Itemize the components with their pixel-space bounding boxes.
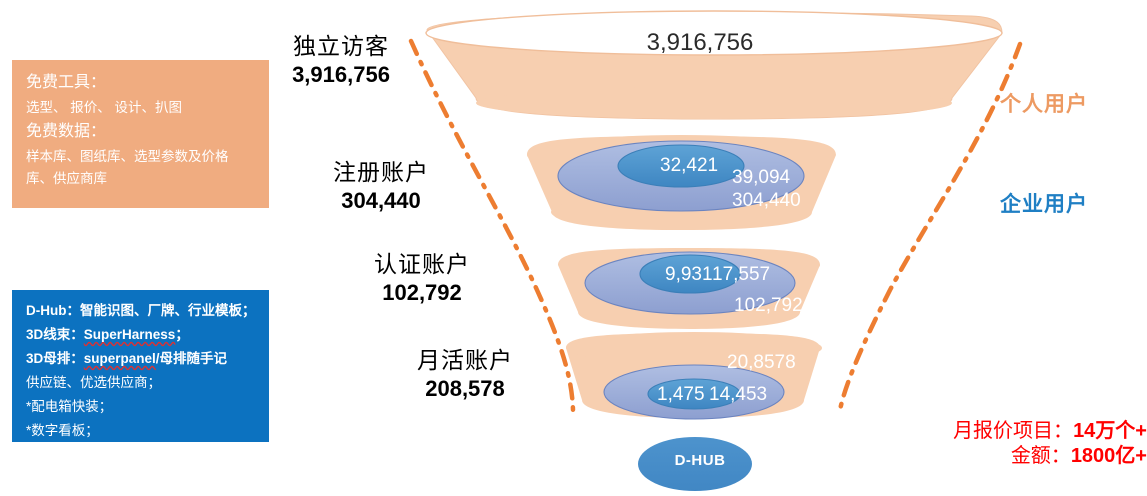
funnel-infographic: 免费工具： 选型、 报价、 设计、扒图 免费数据： 样本库、图纸库、选型参数及价… xyxy=(0,0,1147,496)
dhub-line-3-suffix: /母排随手记 xyxy=(156,351,227,366)
registered-middle-value: 39,094 xyxy=(732,167,790,189)
segment-label-enterprise: 企业用户 xyxy=(1000,188,1088,218)
stage-label-visitors: 独立访客 3,916,756 xyxy=(276,34,406,88)
stage-label-monthly-active: 月活账户 208,578 xyxy=(400,348,530,402)
dhub-line-3-label: 3D母排： xyxy=(26,351,84,366)
superharness-link[interactable]: SuperHarness xyxy=(84,327,176,342)
dhub-line-2-suffix: ； xyxy=(175,327,189,342)
registered-outer-value: 304,440 xyxy=(732,190,801,212)
superpanel-link[interactable]: superpanel xyxy=(84,351,156,366)
stage-label-registered: 注册账户 304,440 xyxy=(316,160,446,214)
segment-label-personal: 个人用户 xyxy=(1000,88,1088,118)
callout-row-amount: 金额：1800亿+ xyxy=(862,443,1147,468)
visitors-total-value: 3,916,756 xyxy=(565,29,835,57)
free-data-heading: 免费数据： xyxy=(26,119,255,145)
stage-label-certified-value: 102,792 xyxy=(357,280,487,306)
dhub-line-2-label: 3D线束： xyxy=(26,327,84,342)
free-data-list-line-1: 样本库、图纸库、选型参数及价格 xyxy=(26,146,255,168)
callout-projects-label: 月报价项目： xyxy=(953,418,1073,442)
monthly-active-middle-value: 14,453 xyxy=(709,384,767,406)
dhub-line-6: *数字看板； xyxy=(26,419,255,443)
free-tools-heading: 免费工具： xyxy=(26,70,255,96)
dhub-line-2: 3D线束：SuperHarness； xyxy=(26,323,255,347)
certified-outer-value: 102,792 xyxy=(734,295,803,317)
stage-label-monthly-active-value: 208,578 xyxy=(400,376,530,402)
dhub-outlet-label: D-HUB xyxy=(610,452,790,469)
dhub-line-3: 3D母排：superpanel/母排随手记 xyxy=(26,347,255,371)
monthly-active-outer-value: 20,8578 xyxy=(727,352,796,374)
stage-label-certified-name: 认证账户 xyxy=(357,252,487,279)
monthly-active-inner-value: 1,475 xyxy=(657,384,705,406)
dhub-line-1: D-Hub：智能识图、厂牌、行业模板； xyxy=(26,299,255,323)
certified-inner-value: 9,931 xyxy=(665,264,713,286)
stage-label-registered-value: 304,440 xyxy=(316,188,446,214)
dhub-products-box: D-Hub：智能识图、厂牌、行业模板； 3D线束：SuperHarness； 3… xyxy=(12,290,269,442)
callout-amount-label: 金额： xyxy=(1011,443,1071,467)
registered-inner-value: 32,421 xyxy=(660,155,718,177)
funnel-stage-visitors xyxy=(426,11,1002,119)
callout-projects-value: 14 xyxy=(1073,420,1095,442)
free-tools-list: 选型、 报价、 设计、扒图 xyxy=(26,97,255,119)
callout-amount-unit: 亿+ xyxy=(1115,445,1147,467)
callout-projects-unit: 万个+ xyxy=(1095,420,1147,442)
free-services-box: 免费工具： 选型、 报价、 设计、扒图 免费数据： 样本库、图纸库、选型参数及价… xyxy=(12,60,269,208)
certified-middle-value: 17,557 xyxy=(712,264,770,286)
stage-label-monthly-active-name: 月活账户 xyxy=(400,348,530,375)
stage-label-registered-name: 注册账户 xyxy=(316,160,446,187)
dhub-line-5: *配电箱快装； xyxy=(26,395,255,419)
callout-amount-value: 1800 xyxy=(1071,445,1116,467)
callout-row-projects: 月报价项目：14万个+ xyxy=(862,418,1147,443)
monthly-quote-callout: 月报价项目：14万个+ 金额：1800亿+ xyxy=(862,418,1147,469)
dhub-line-4: 供应链、优选供应商； xyxy=(26,371,255,395)
stage-label-certified: 认证账户 102,792 xyxy=(357,252,487,306)
stage-label-visitors-name: 独立访客 xyxy=(276,34,406,61)
stage-label-visitors-value: 3,916,756 xyxy=(276,62,406,88)
free-data-list-line-2: 库、供应商库 xyxy=(26,168,255,190)
